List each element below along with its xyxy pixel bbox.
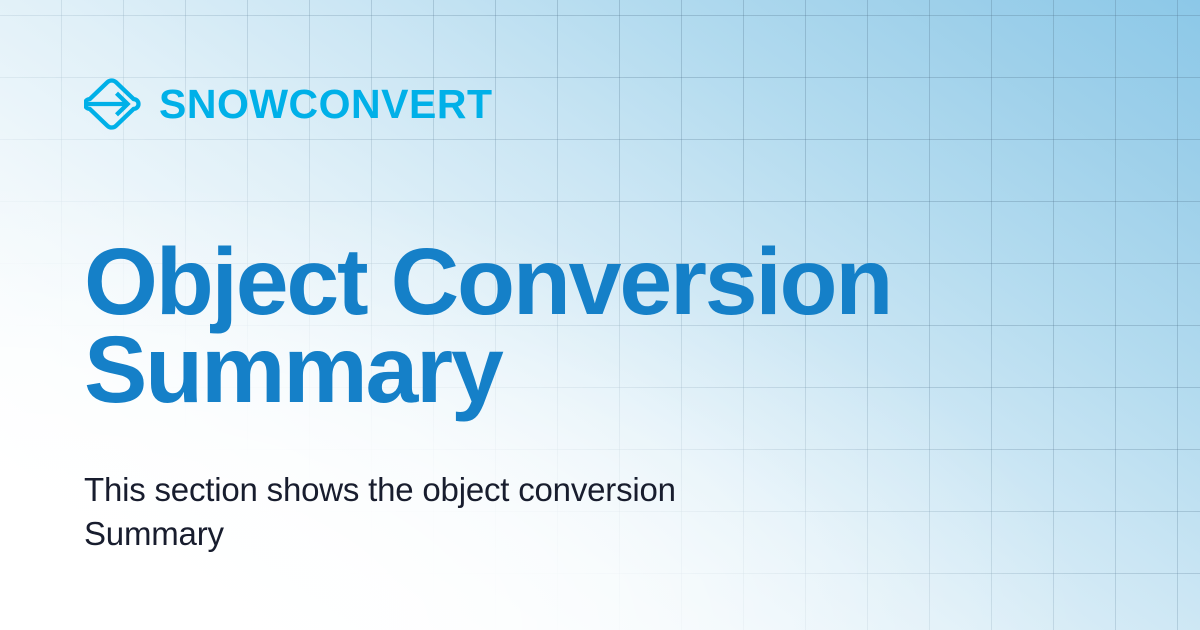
snowconvert-arrow-hexagon-icon [84, 78, 142, 130]
snowconvert-logo: SNOWCONVERT [84, 78, 493, 130]
banner-content: SNOWCONVERT Object Conversion Summary Th… [0, 0, 1200, 630]
page-title: Object Conversion Summary [84, 238, 944, 414]
title-banner: SNOWCONVERT Object Conversion Summary Th… [0, 0, 1200, 630]
snowconvert-wordmark: SNOWCONVERT [159, 84, 493, 125]
page-subtitle: This section shows the object conversion… [84, 468, 784, 556]
